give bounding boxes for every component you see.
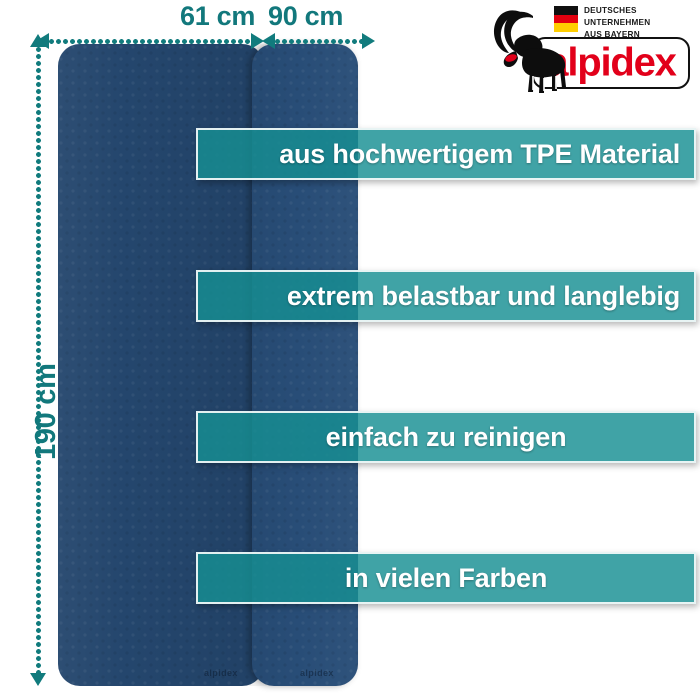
mat-brand-label-right: alpidex: [300, 668, 334, 678]
dimension-label-width-1: 61 cm: [180, 1, 255, 32]
feature-banner-3: einfach zu reinigen: [196, 411, 696, 463]
dimension-arrow-width-2: [262, 34, 375, 48]
feature-banner-1: aus hochwertigem TPE Material: [196, 128, 696, 180]
mat-brand-label-left: alpidex: [204, 668, 238, 678]
dotted-line: [36, 47, 41, 673]
arrow-up-icon: [30, 34, 46, 47]
arrow-down-icon: [30, 673, 46, 686]
feature-banner-2: extrem belastbar und langlebig: [196, 270, 696, 322]
feature-banner-1-text: aus hochwertigem TPE Material: [198, 139, 694, 170]
dimension-arrow-length: [31, 34, 45, 686]
feature-banner-4: in vielen Farben: [196, 552, 696, 604]
dotted-line: [49, 39, 251, 44]
dimension-arrow-width-1: [36, 34, 264, 48]
arrow-right-icon: [362, 33, 375, 49]
alpidex-logo: DEUTSCHES UNTERNEHMEN AUS BAYERN alpidex: [486, 2, 694, 94]
arrow-left-icon: [262, 33, 275, 49]
logo-claim-line-1: DEUTSCHES UNTERNEHMEN: [584, 5, 696, 29]
product-infographic: alpidex alpidex 61 cm 90 cm 190 cm aus h…: [0, 0, 700, 700]
logo-claim-text: DEUTSCHES UNTERNEHMEN AUS BAYERN: [584, 5, 696, 41]
feature-banner-2-text: extrem belastbar und langlebig: [198, 281, 694, 312]
feature-banner-3-text: einfach zu reinigen: [198, 422, 694, 453]
dotted-line: [275, 39, 362, 44]
dimension-label-width-2: 90 cm: [268, 1, 343, 32]
ibex-goat-icon: [486, 6, 572, 94]
feature-banner-4-text: in vielen Farben: [198, 563, 694, 594]
